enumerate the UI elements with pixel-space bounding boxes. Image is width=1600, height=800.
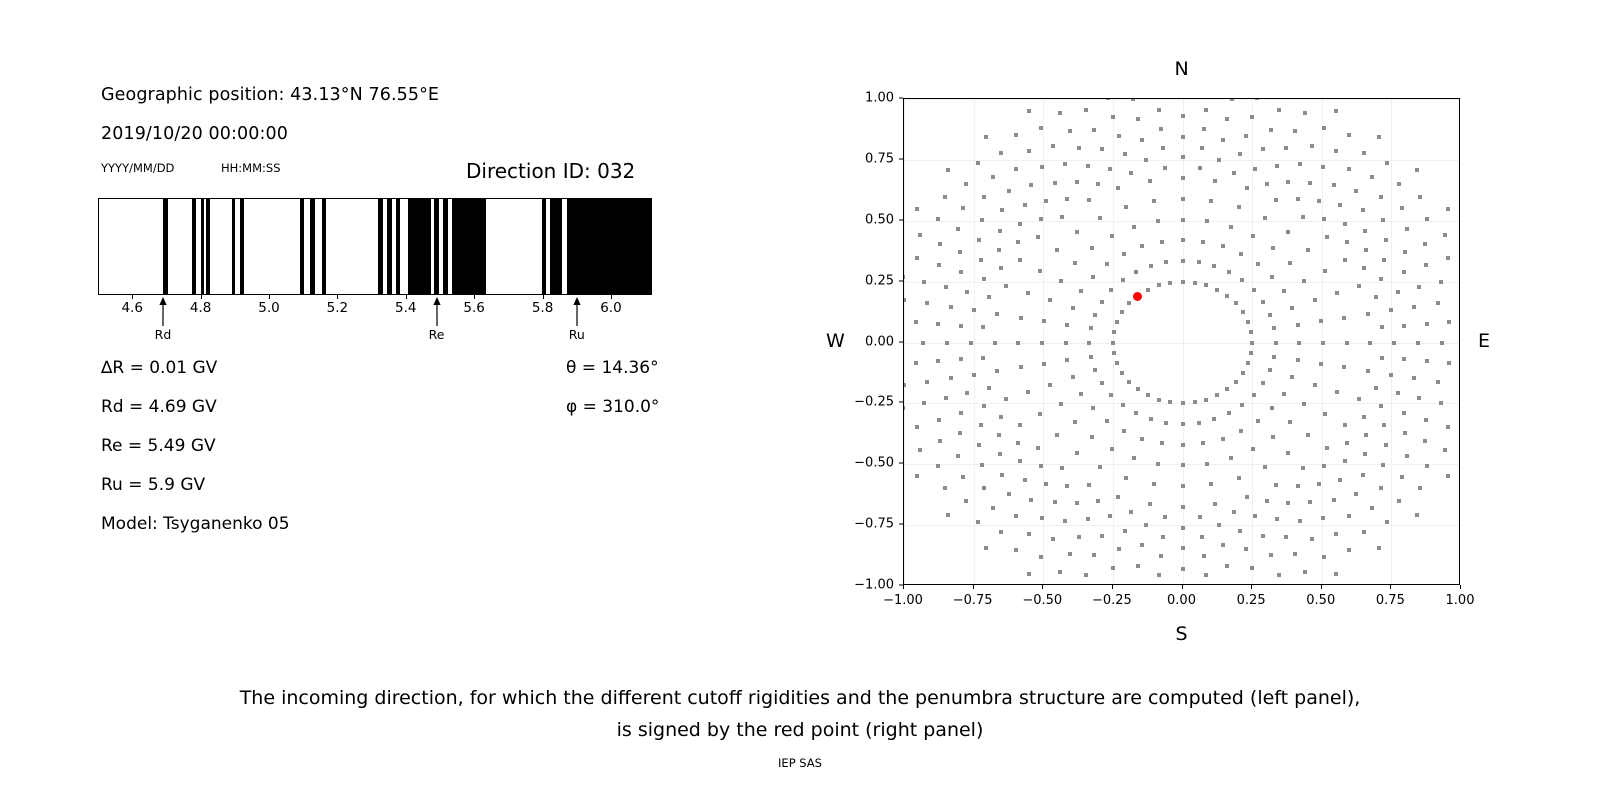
sky-point (1412, 305, 1416, 309)
sky-point (1343, 423, 1347, 427)
sky-point (1261, 381, 1265, 385)
sky-point (981, 356, 985, 360)
sky-point (925, 301, 929, 305)
sky-point (1148, 179, 1152, 183)
sky-point (1040, 165, 1044, 169)
sky-point (1389, 308, 1393, 312)
sky-point (991, 506, 995, 510)
sky-point (1332, 498, 1336, 502)
sky-point (1338, 203, 1342, 207)
sky-point (918, 233, 922, 237)
sky-point (1215, 393, 1219, 397)
sky-point (1029, 498, 1033, 502)
sky-point (1380, 325, 1384, 329)
rigidity-marker-arrow-rd (156, 296, 170, 326)
sky-point (1122, 252, 1126, 256)
sky-point (1322, 555, 1326, 559)
x-tick-mark (1182, 585, 1183, 589)
sky-point (1110, 447, 1114, 451)
sky-point (1042, 362, 1046, 366)
sky-point (1115, 361, 1119, 365)
sky-point (1212, 417, 1216, 421)
x-tick-label: −1.00 (883, 593, 923, 608)
sky-point (1019, 316, 1023, 320)
sky-point (1270, 275, 1274, 279)
sky-point (903, 275, 905, 279)
y-tick-mark (899, 280, 903, 281)
sky-point (1181, 280, 1185, 284)
sky-point (1443, 448, 1447, 452)
sky-point (1271, 435, 1275, 439)
sky-point (976, 520, 980, 524)
sky-point (1087, 198, 1091, 202)
sky-point (1382, 423, 1386, 427)
sky-point (980, 463, 984, 467)
sky-point (1096, 499, 1100, 503)
sky-point (1385, 161, 1389, 165)
sky-point (1296, 323, 1300, 327)
sky-point (1405, 227, 1409, 231)
sky-point (1302, 402, 1306, 406)
sky-point (1397, 499, 1401, 503)
sky-point (1425, 464, 1429, 468)
penumbra-tick-label: 5.8 (532, 300, 553, 316)
sky-point (1087, 483, 1091, 487)
sky-point (1246, 320, 1250, 324)
parameter-left-3: Ru = 5.9 GV (101, 475, 205, 495)
sky-point (1065, 358, 1069, 362)
sky-point (1415, 168, 1419, 172)
sky-point (1181, 546, 1185, 550)
time-format-hint: HH:MM:SS (221, 161, 281, 175)
x-tick-mark (903, 585, 904, 589)
sky-point (1039, 126, 1043, 130)
sky-point (1221, 244, 1225, 248)
sky-point (1272, 355, 1276, 359)
sky-point (1181, 114, 1185, 118)
sky-point (1068, 129, 1072, 133)
penumbra-tick-label: 6.0 (600, 300, 621, 316)
sky-point (1084, 108, 1088, 112)
sky-point (1269, 553, 1273, 557)
penumbra-band (310, 199, 314, 294)
sky-point (1064, 341, 1068, 345)
gridline-horizontal (904, 99, 1459, 100)
sky-point (1217, 158, 1221, 162)
sky-point (982, 195, 986, 199)
sky-point (1296, 358, 1300, 362)
sky-point (1361, 473, 1365, 477)
sky-point (1249, 330, 1253, 334)
y-tick-label: −0.25 (854, 395, 894, 410)
penumbra-plot-area (98, 198, 652, 295)
sky-point (1347, 548, 1351, 552)
sky-point (1296, 484, 1300, 488)
sky-point (1075, 230, 1079, 234)
sky-point (1238, 529, 1242, 533)
sky-point (1302, 279, 1306, 283)
sky-point (922, 401, 926, 405)
sky-point (1181, 176, 1185, 180)
sky-point (1225, 564, 1229, 568)
sky-point (1377, 135, 1381, 139)
sky-point (936, 217, 940, 221)
sky-point (945, 341, 949, 345)
sky-point (1382, 258, 1386, 262)
sky-point (1418, 195, 1422, 199)
sky-point (1362, 151, 1366, 155)
gridline-vertical (904, 99, 905, 584)
sky-point (1105, 419, 1109, 423)
sky-point (1181, 463, 1185, 467)
sky-point (1110, 234, 1114, 238)
sky-point (1306, 248, 1310, 252)
y-tick-label: 0.75 (865, 151, 894, 166)
sky-point (1059, 279, 1063, 283)
sky-point (1075, 451, 1079, 455)
selected-direction-point[interactable] (1133, 292, 1142, 301)
sky-point (1322, 217, 1326, 221)
x-tick-label: 0.00 (1167, 593, 1196, 608)
x-tick-mark (1321, 585, 1322, 589)
sky-point (1217, 523, 1221, 527)
sky-point (1275, 164, 1279, 168)
sky-point (982, 404, 986, 408)
sky-point (1198, 515, 1202, 519)
sky-point (1068, 552, 1072, 556)
penumbra-tick-label: 4.8 (190, 300, 211, 316)
sky-point (1366, 312, 1370, 316)
sky-point (1077, 146, 1081, 150)
sky-point (1396, 290, 1400, 294)
sky-point (1310, 144, 1314, 148)
penumbra-tick-mark (543, 295, 544, 299)
sky-point (1345, 240, 1349, 244)
sky-point (1255, 98, 1259, 100)
sky-point (1334, 532, 1338, 536)
sky-point (1392, 341, 1396, 345)
sky-point (1282, 392, 1286, 396)
sky-point (1354, 492, 1358, 496)
gridline-horizontal (904, 160, 1459, 161)
sky-point (1230, 584, 1234, 585)
y-tick-label: 1.00 (865, 91, 894, 106)
x-tick-label: 1.00 (1446, 593, 1475, 608)
sky-point (914, 320, 918, 324)
sky-point (1240, 278, 1244, 282)
compass-label-east: E (1478, 330, 1490, 352)
sky-point (961, 206, 965, 210)
sky-point (1317, 199, 1321, 203)
sky-point (1168, 281, 1172, 285)
sky-point (1380, 356, 1384, 360)
sky-point (969, 341, 973, 345)
sky-point (982, 486, 986, 490)
sky-point (1306, 433, 1310, 437)
sky-point (1093, 368, 1097, 372)
penumbra-tick-label: 5.6 (463, 300, 484, 316)
sky-point (1377, 546, 1381, 550)
sky-point (1241, 310, 1245, 314)
sky-point (944, 396, 948, 400)
sky-point (1120, 371, 1124, 375)
sky-point (1321, 165, 1325, 169)
y-tick-mark (899, 219, 903, 220)
x-tick-label: −0.75 (953, 593, 993, 608)
sky-point (1342, 316, 1346, 320)
sky-point (915, 425, 919, 429)
sky-point (1077, 535, 1081, 539)
sky-point (1265, 182, 1269, 186)
sky-point (1439, 401, 1443, 405)
x-tick-label: −0.25 (1092, 593, 1132, 608)
sky-point (1181, 259, 1185, 263)
sky-point (1261, 300, 1265, 304)
sky-point (1244, 134, 1248, 138)
x-tick-label: 0.75 (1376, 593, 1405, 608)
parameter-right-0: θ = 14.36° (566, 358, 659, 378)
sky-point (1111, 341, 1115, 345)
sky-point (1116, 495, 1120, 499)
y-tick-label: −0.50 (854, 456, 894, 471)
sky-point (1364, 248, 1368, 252)
sky-point (1379, 486, 1383, 490)
sky-point (1100, 300, 1104, 304)
sky-point (1131, 584, 1135, 585)
sky-point (1284, 146, 1288, 150)
sky-point (977, 443, 981, 447)
sky-point (1251, 447, 1255, 451)
sky-point (1370, 506, 1374, 510)
sky-point (1313, 383, 1317, 387)
penumbra-band (434, 199, 439, 294)
sky-point (1063, 162, 1067, 166)
sky-point (1146, 393, 1150, 397)
sky-point (1446, 425, 1450, 429)
sky-point (1400, 206, 1404, 210)
sky-point (1325, 235, 1329, 239)
y-tick-label: 0.25 (865, 273, 894, 288)
penumbra-tick-mark (611, 295, 612, 299)
sky-point (1288, 261, 1292, 265)
sky-point (1334, 149, 1338, 153)
y-tick-mark (899, 524, 903, 525)
sky-point (1239, 429, 1243, 433)
parameter-right-1: φ = 310.0° (566, 397, 659, 417)
sky-point (903, 406, 905, 410)
right-panel: −1.00−0.75−0.50−0.250.000.250.500.751.00… (800, 0, 1600, 660)
sky-point (1261, 147, 1265, 151)
sky-point (918, 448, 922, 452)
penumbra-band (206, 199, 211, 294)
sky-point (1127, 380, 1131, 384)
sky-point (1163, 515, 1167, 519)
y-tick-mark (899, 341, 903, 342)
sky-point (1200, 146, 1204, 150)
sky-point (937, 418, 941, 422)
sky-point (972, 373, 976, 377)
sky-point (959, 411, 963, 415)
sky-point (1308, 181, 1312, 185)
sky-point (1417, 285, 1421, 289)
sky-point (1058, 570, 1062, 574)
sky-point (1244, 547, 1248, 551)
sky-point (1221, 437, 1225, 441)
sky-point (999, 151, 1003, 155)
sky-point (1232, 171, 1236, 175)
sky-point (1272, 326, 1276, 330)
sky-point (977, 238, 981, 242)
sky-point (1284, 535, 1288, 539)
sky-point (1075, 180, 1079, 184)
sky-point (1239, 252, 1243, 256)
sky-point (1335, 390, 1339, 394)
sky-point (1424, 418, 1428, 422)
sky-point (1000, 473, 1004, 477)
sky-point (1161, 146, 1165, 150)
sky-point (1343, 222, 1347, 226)
sky-point (1402, 357, 1406, 361)
sky-point (1209, 199, 1213, 203)
sky-point (1439, 280, 1443, 284)
sky-point (1007, 189, 1011, 193)
sky-point (1215, 288, 1219, 292)
x-tick-mark (973, 585, 974, 589)
sky-point (903, 298, 906, 302)
sky-point (1159, 127, 1163, 131)
sky-point (1098, 216, 1102, 220)
sky-point (1060, 466, 1064, 470)
sky-point (1364, 433, 1368, 437)
sky-point (1301, 215, 1305, 219)
sky-point (1277, 573, 1281, 577)
sky-point (1374, 295, 1378, 299)
sky-point (1071, 306, 1075, 310)
sky-point (1308, 500, 1312, 504)
sky-point (1362, 530, 1366, 534)
sky-point (1090, 246, 1094, 250)
sky-point (1123, 529, 1127, 533)
sky-point (1193, 281, 1197, 285)
sky-point (1347, 167, 1351, 171)
sky-point (1127, 301, 1131, 305)
sky-point (1221, 543, 1225, 547)
sky-point (1379, 195, 1383, 199)
sky-point (1007, 492, 1011, 496)
sky-point (1252, 288, 1256, 292)
sky-point (1108, 167, 1112, 171)
sky-point (972, 308, 976, 312)
sky-point (1347, 514, 1351, 518)
sky-point (1059, 402, 1063, 406)
sky-point (1397, 182, 1401, 186)
sky-point (1115, 320, 1119, 324)
sky-point (1290, 306, 1294, 310)
penumbra-band (192, 199, 196, 294)
penumbra-band (322, 199, 326, 294)
sky-point (1140, 138, 1144, 142)
sky-point (1014, 548, 1018, 552)
sky-point (1055, 433, 1059, 437)
sky-point (1363, 229, 1367, 233)
sky-point (1157, 283, 1161, 287)
sky-point (1379, 277, 1383, 281)
sky-point (1159, 554, 1163, 558)
compass-label-west: W (826, 330, 845, 352)
sky-point (1424, 263, 1428, 267)
sky-point (1149, 417, 1153, 421)
sky-point (1044, 199, 1048, 203)
sky-point (936, 359, 940, 363)
sky-point (1256, 419, 1260, 423)
rigidity-marker-arrow-re (430, 296, 444, 326)
sky-point (1117, 547, 1121, 551)
sky-point (1246, 361, 1250, 365)
sky-point (1157, 398, 1161, 402)
sky-point (1197, 421, 1201, 425)
sky-point (1123, 152, 1127, 156)
sky-point (1014, 133, 1018, 137)
sky-point (1338, 478, 1342, 482)
sky-point (1400, 475, 1404, 479)
sky-point (1042, 319, 1046, 323)
sky-point (1443, 233, 1447, 237)
penumbra-band (443, 199, 448, 294)
sky-point (1417, 396, 1421, 400)
sky-point (1334, 109, 1338, 113)
sky-point (1026, 390, 1030, 394)
sky-point (915, 256, 919, 260)
sky-point (1343, 258, 1347, 262)
sky-point (1288, 420, 1292, 424)
sky-point (1249, 351, 1253, 355)
sky-point (1092, 553, 1096, 557)
sky-point (1157, 108, 1161, 112)
rigidity-marker-label-ru: Ru (569, 327, 585, 342)
sky-point (1425, 322, 1429, 326)
sky-point (1156, 462, 1160, 466)
compass-label-south: S (1176, 623, 1188, 645)
sky-point (914, 361, 918, 365)
sky-point (1317, 482, 1321, 486)
x-tick-mark (1460, 585, 1461, 589)
sky-point (1362, 415, 1366, 419)
sky-point (1290, 375, 1294, 379)
sky-point (1423, 439, 1427, 443)
sky-point (984, 135, 988, 139)
sky-point (1204, 398, 1208, 402)
sky-point (1459, 298, 1460, 302)
sky-point (1038, 269, 1042, 273)
sky-point (1039, 217, 1043, 221)
sky-point (1044, 482, 1048, 486)
sky-point (1181, 484, 1185, 488)
sky-point (995, 312, 999, 316)
sky-point (1048, 383, 1052, 387)
sky-point (937, 263, 941, 267)
sky-point (961, 475, 965, 479)
sky-point (1105, 262, 1109, 266)
sky-point (1144, 523, 1148, 527)
sky-point (1116, 186, 1120, 190)
sky-point (1146, 288, 1150, 292)
sky-point (1446, 207, 1450, 211)
sky-point (1111, 566, 1115, 570)
sky-point (1447, 361, 1451, 365)
sky-point (1286, 501, 1290, 505)
sky-point (1075, 501, 1079, 505)
sky-point (965, 290, 969, 294)
